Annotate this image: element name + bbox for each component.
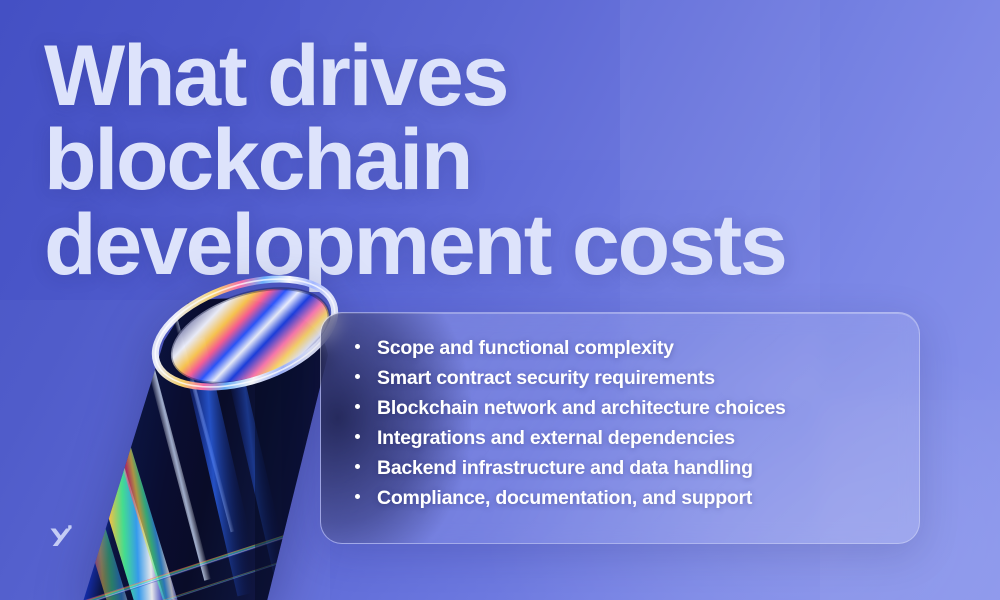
list-item-label: Integrations and external dependencies [377, 427, 735, 450]
banner: What drives blockchain development costs [0, 0, 1000, 600]
cost-driver-list: Scope and functional complexity Smart co… [355, 337, 786, 517]
bullet-dot-icon [355, 464, 360, 469]
list-item: Blockchain network and architecture choi… [355, 397, 786, 427]
list-item-label: Backend infrastructure and data handling [377, 457, 753, 480]
bullet-dot-icon [355, 494, 360, 499]
bullet-card: Scope and functional complexity Smart co… [320, 312, 920, 544]
list-item-label: Compliance, documentation, and support [377, 487, 752, 510]
list-item-label: Smart contract security requirements [377, 367, 715, 390]
bullet-dot-icon [355, 404, 360, 409]
bullet-dot-icon [355, 434, 360, 439]
bullet-dot-icon [355, 344, 360, 349]
list-item-label: Scope and functional complexity [377, 337, 674, 360]
page-title: What drives blockchain development costs [44, 34, 974, 287]
list-item: Backend infrastructure and data handling [355, 457, 786, 487]
x-mark-logo-icon [46, 519, 76, 549]
list-item: Integrations and external dependencies [355, 427, 786, 457]
list-item: Scope and functional complexity [355, 337, 786, 367]
list-item-label: Blockchain network and architecture choi… [377, 397, 786, 420]
list-item: Smart contract security requirements [355, 367, 786, 397]
background-block [0, 300, 330, 600]
list-item: Compliance, documentation, and support [355, 487, 786, 517]
bullet-dot-icon [355, 374, 360, 379]
